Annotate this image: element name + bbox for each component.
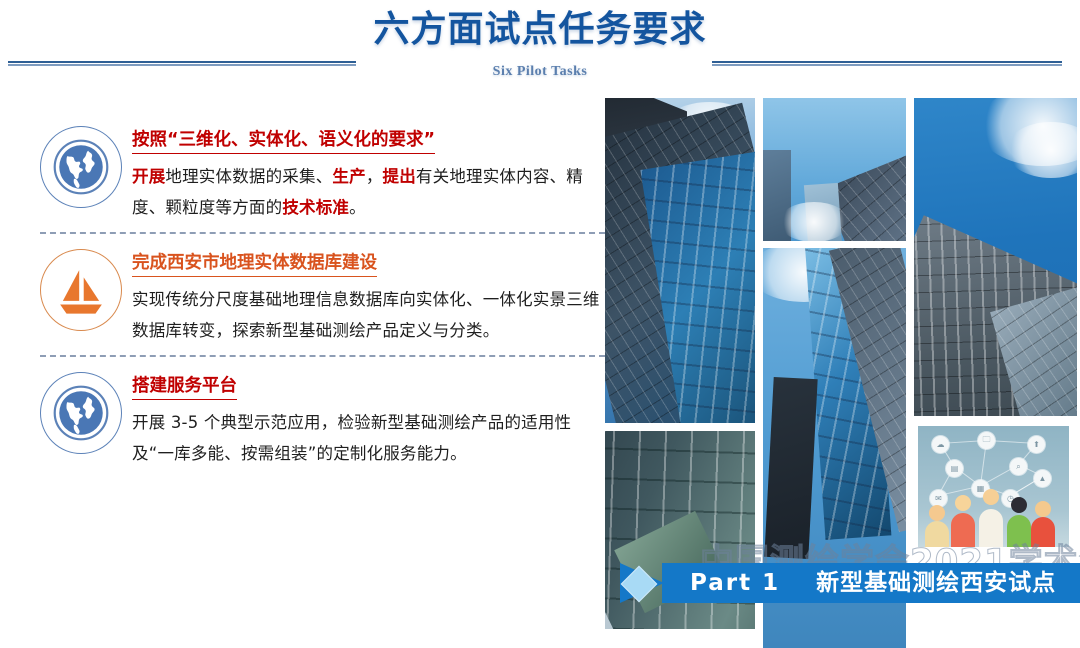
task-item-2-heading: 完成西安市地理实体数据库建设 [132,251,377,277]
highlight-text: 生产 [332,167,365,186]
avatar [950,495,976,547]
task-item-1: 按照“三维化、实体化、语义化的要求” 开展地理实体数据的采集、生产，提出有关地理… [40,120,605,223]
task-item-2-body: 实现传统分尺度基础地理信息数据库向实体化、一体化实景三维数据库转变，探索新型基础… [132,284,605,346]
highlight-text: 开展 [132,167,165,186]
footer-section-title: 新型基础测绘西安试点 [816,570,1056,596]
task-item-1-body: 开展地理实体数据的采集、生产，提出有关地理实体内容、精度、颗粒度等方面的技术标准… [132,161,605,223]
body-text: 开展 3-5 个典型示范应用，检验新型基础测绘产品的适用性及“一库多能、按需组装… [132,413,571,463]
chart-icon: ▲ [1034,470,1051,487]
avatar [924,505,950,547]
globe-icon-glyph [52,138,110,196]
task-item-1-heading: 按照“三维化、实体化、语义化的要求” [132,128,435,154]
skyscraper-photo-right-top [914,98,1077,418]
skyscraper-photo-center-top [763,98,906,241]
body-text: ， [366,167,383,186]
body-text: 地理实体数据的采集、 [165,167,332,186]
body-text: 实现传统分尺度基础地理信息数据库向实体化、一体化实景三维数据库转变，探索新型基础… [132,290,600,340]
task-item-3-texts: 搭建服务平台 开展 3-5 个典型示范应用，检验新型基础测绘产品的适用性及“一库… [132,366,605,469]
sailboat-icon [40,249,122,331]
slide-header: 六方面试点任务要求 Six Pilot Tasks [0,0,1080,90]
page-subtitle: Six Pilot Tasks [0,64,1080,80]
task-item-3: 搭建服务平台 开展 3-5 个典型示范应用，检验新型基础测绘产品的适用性及“一库… [40,366,605,469]
sailboat-icon-glyph [52,261,110,319]
avatar [978,489,1004,547]
section-footer: Part 1 新型基础测绘西安试点 [608,563,1080,603]
task-item-2: 完成西安市地理实体数据库建设 实现传统分尺度基础地理信息数据库向实体化、一体化实… [40,243,605,346]
skyscraper-photo-left-top [605,98,755,423]
page-title: 六方面试点任务要求 [0,8,1080,52]
task-item-3-heading: 搭建服务平台 [132,374,237,400]
search-icon: ⌕ [1010,458,1027,475]
slide-root: 六方面试点任务要求 Six Pilot Tasks 按照“三维化、实体化、语义化… [0,0,1080,607]
globe-icon-glyph [52,384,110,442]
avatar [1006,497,1032,547]
cloud-icon: ☁ [932,436,949,453]
footer-label: Part 1 新型基础测绘西安试点 [690,563,1056,603]
highlight-text: 提出 [383,167,416,186]
task-divider-2 [40,355,605,357]
avatar [1030,501,1056,547]
task-item-3-body: 开展 3-5 个典型示范应用，检验新型基础测绘产品的适用性及“一库多能、按需组装… [132,407,605,469]
body-text: 。 [349,198,366,217]
task-divider-1 [40,232,605,234]
globe-icon [40,372,122,454]
upload-icon: ⬆ [1028,436,1045,453]
globe-icon [40,126,122,208]
task-item-1-texts: 按照“三维化、实体化、语义化的要求” 开展地理实体数据的采集、生产，提出有关地理… [132,120,605,223]
task-list: 按照“三维化、实体化、语义化的要求” 开展地理实体数据的采集、生产，提出有关地理… [40,120,605,550]
footer-part-label: Part 1 [690,570,780,596]
photo-collage: ☁ 🗀 ⬆ ▤ ⌕ ▦ ▲ ✉ ◷ [600,88,1080,563]
highlight-text: 技术标准 [282,198,349,217]
network-people-illustration: ☁ 🗀 ⬆ ▤ ⌕ ▦ ▲ ✉ ◷ [906,416,1080,551]
task-item-2-texts: 完成西安市地理实体数据库建设 实现传统分尺度基础地理信息数据库向实体化、一体化实… [132,243,605,346]
folder-icon: 🗀 [978,432,995,449]
chat-icon: ▤ [946,460,963,477]
